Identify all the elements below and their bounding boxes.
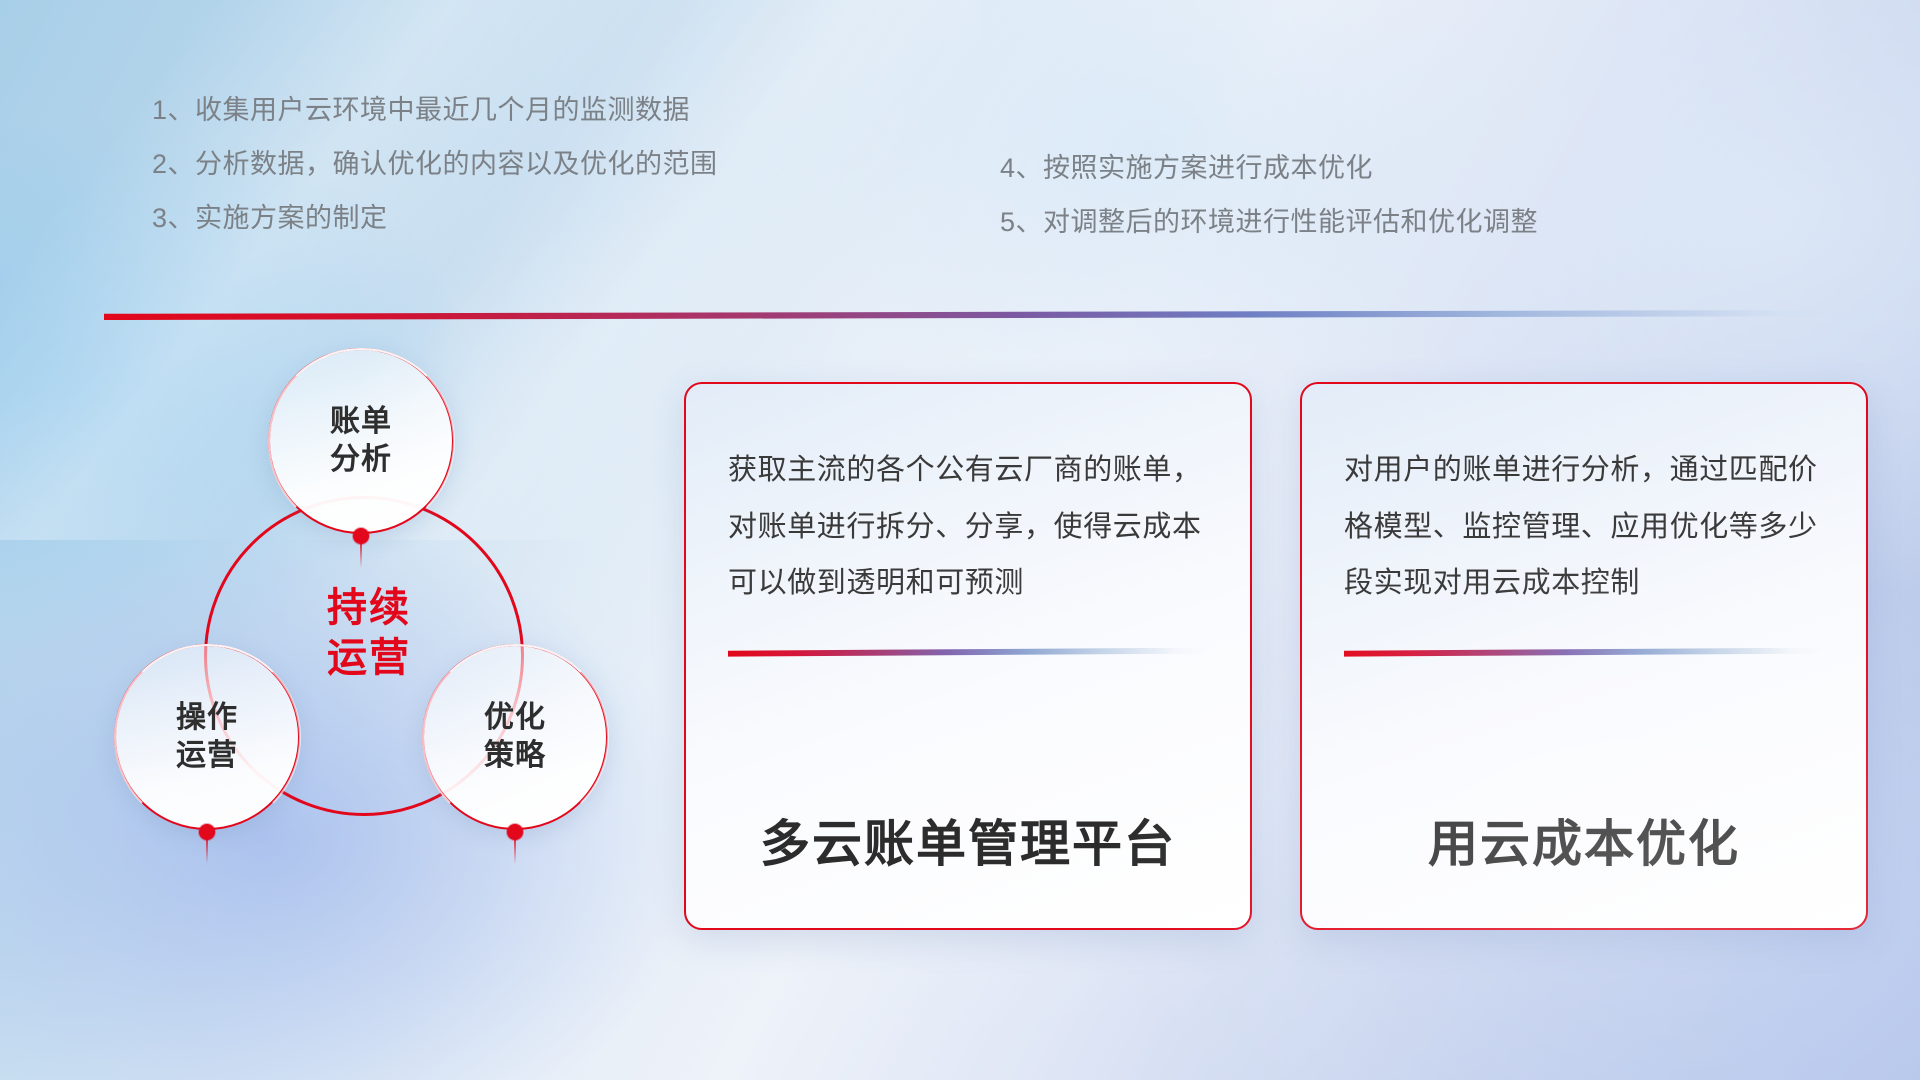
venn-node-label-line2: 策略 [484, 737, 546, 775]
bullet-item-3: 3、实施方案的制定 [152, 205, 718, 232]
card-title: 多云账单管理平台 [728, 804, 1208, 888]
bullet-item-4: 4、按照实施方案进行成本优化 [1000, 155, 1538, 182]
card-body-text: 对用户的账单进行分析，通过匹配价格模型、监控管理、应用优化等多少段实现对用云成本… [1344, 442, 1824, 612]
card-title: 用云成本优化 [1344, 804, 1824, 888]
card-divider [728, 648, 1208, 657]
bullet-item-5: 5、对调整后的环境进行性能评估和优化调整 [1000, 209, 1538, 236]
venn-node-label: 优化 策略 [484, 699, 546, 775]
slide-canvas: 1、收集用户云环境中最近几个月的监测数据 2、分析数据，确认优化的内容以及优化的… [0, 0, 1920, 1080]
venn-diagram: 持续 运营 账单 分析 操作 运营 优化 策略 [96, 348, 636, 948]
venn-node-tail-top [360, 542, 362, 568]
card-divider [1344, 648, 1824, 657]
venn-node-label-line1: 账单 [330, 403, 392, 441]
venn-node-operations[interactable]: 操作 运营 [114, 644, 300, 830]
card-body-text: 获取主流的各个公有云厂商的账单，对账单进行拆分、分享，使得云成本可以做到透明和可… [728, 442, 1208, 612]
venn-node-label-line2: 分析 [330, 441, 392, 479]
venn-center-label-line2: 运营 [304, 634, 434, 684]
section-divider [104, 310, 1844, 320]
venn-node-label: 操作 运营 [176, 699, 238, 775]
card-multicloud-billing-platform[interactable]: 获取主流的各个公有云厂商的账单，对账单进行拆分、分享，使得云成本可以做到透明和可… [684, 382, 1252, 930]
bullet-list-right: 4、按照实施方案进行成本优化 5、对调整后的环境进行性能评估和优化调整 [1000, 155, 1538, 236]
bullet-list-left: 1、收集用户云环境中最近几个月的监测数据 2、分析数据，确认优化的内容以及优化的… [152, 97, 718, 232]
venn-node-tail-right [514, 838, 516, 864]
venn-center-label-line1: 持续 [304, 584, 434, 634]
card-cloud-cost-optimization[interactable]: 对用户的账单进行分析，通过匹配价格模型、监控管理、应用优化等多少段实现对用云成本… [1300, 382, 1868, 930]
venn-node-optimization-strategy[interactable]: 优化 策略 [422, 644, 608, 830]
venn-node-label: 账单 分析 [330, 403, 392, 479]
venn-node-label-line1: 操作 [176, 699, 238, 737]
venn-node-label-line1: 优化 [484, 699, 546, 737]
venn-node-billing-analysis[interactable]: 账单 分析 [268, 348, 454, 534]
venn-center-label: 持续 运营 [304, 584, 434, 683]
bullet-item-1: 1、收集用户云环境中最近几个月的监测数据 [152, 97, 718, 124]
venn-node-tail-left [206, 838, 208, 864]
venn-node-label-line2: 运营 [176, 737, 238, 775]
bullet-item-2: 2、分析数据，确认优化的内容以及优化的范围 [152, 151, 718, 178]
